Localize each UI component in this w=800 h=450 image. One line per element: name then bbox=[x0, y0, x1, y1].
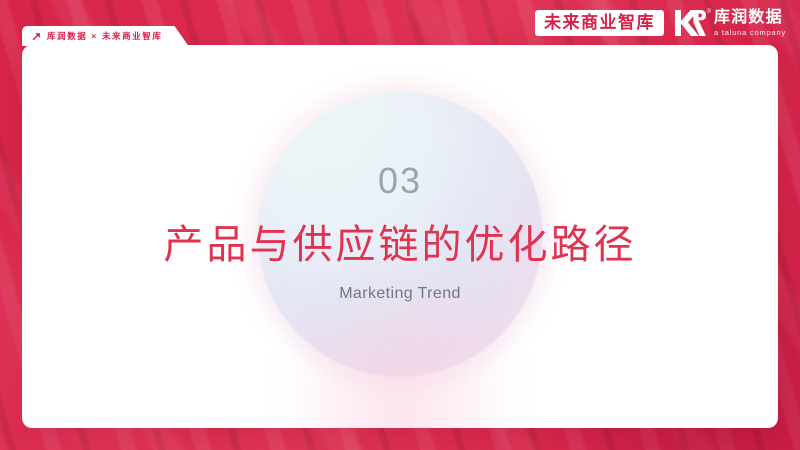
content-card: 03 产品与供应链的优化路径 Marketing Trend bbox=[22, 45, 778, 428]
kr-logo-icon: ® bbox=[673, 8, 707, 38]
brand-text-group: 库润数据 a taluna company bbox=[714, 10, 786, 37]
brand-tagline-en: a taluna company bbox=[714, 29, 786, 37]
sphere-container: 03 产品与供应链的优化路径 Marketing Trend bbox=[22, 45, 778, 428]
section-number: 03 bbox=[22, 163, 778, 199]
brand-pill-label: 未来商业智库 bbox=[535, 10, 664, 36]
section-subtitle: Marketing Trend bbox=[22, 285, 778, 303]
arrow-up-right-icon bbox=[32, 32, 41, 41]
section-title: 产品与供应链的优化路径 bbox=[22, 223, 778, 267]
registered-mark: ® bbox=[707, 9, 711, 15]
corner-tab-label: 库润数据 × 未来商业智库 bbox=[47, 32, 163, 41]
corner-tab[interactable]: 库润数据 × 未来商业智库 bbox=[22, 26, 189, 46]
section-text-block: 03 产品与供应链的优化路径 Marketing Trend bbox=[22, 163, 778, 303]
kurun-brand-group: ® 库润数据 a taluna company bbox=[673, 8, 786, 38]
slide-canvas: 03 产品与供应链的优化路径 Marketing Trend 库润数据 × 未来… bbox=[0, 0, 800, 450]
brand-name-cn: 库润数据 bbox=[714, 10, 786, 26]
brand-lockup: 未来商业智库 ® 库润数据 a taluna company bbox=[535, 8, 786, 38]
